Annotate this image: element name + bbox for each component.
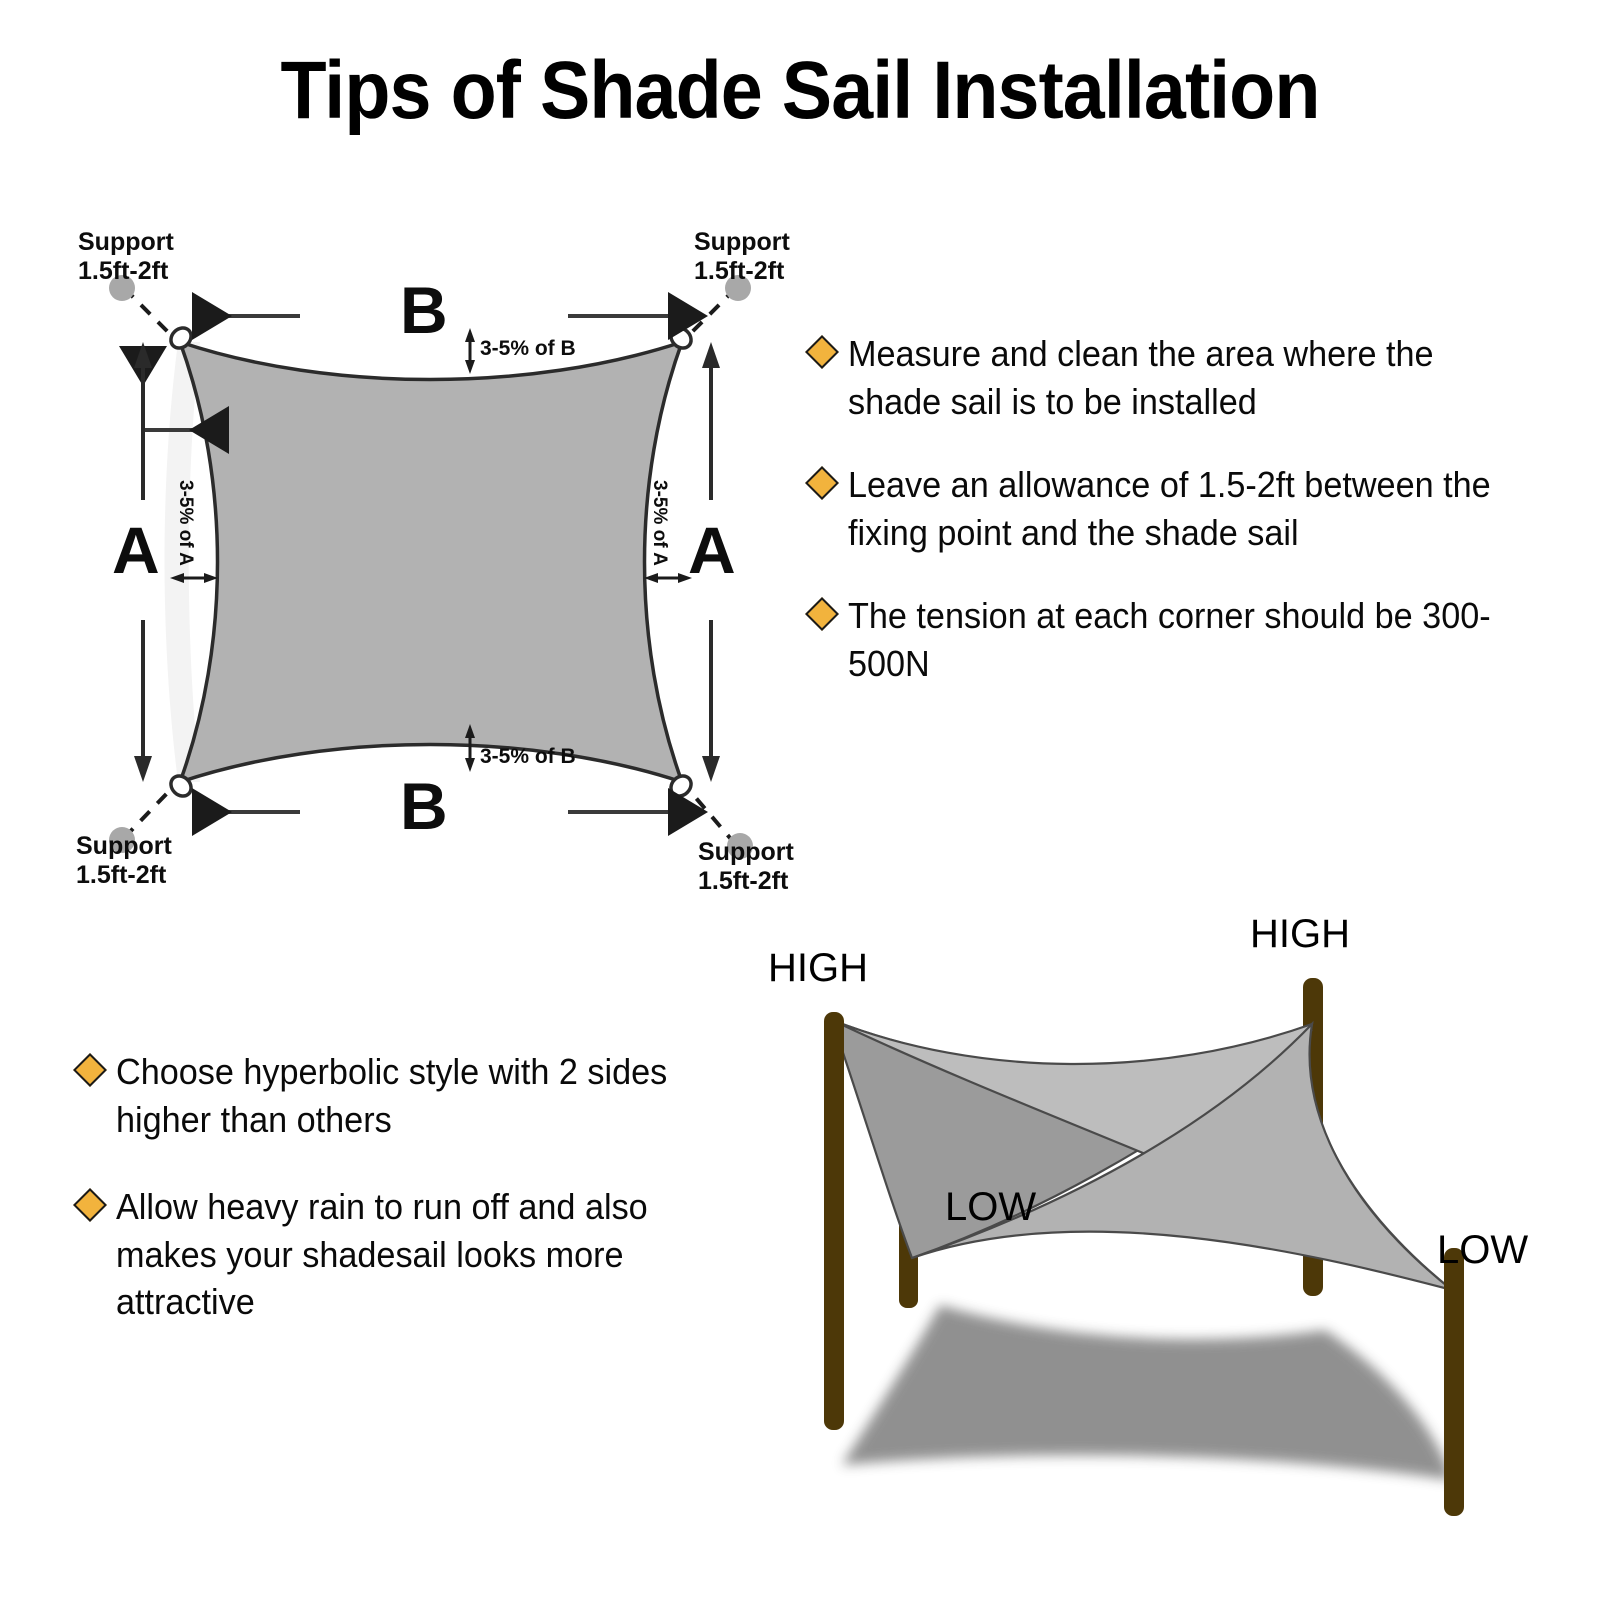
support-label-line1: Support	[76, 832, 172, 860]
callout-arrow-a-right	[644, 573, 692, 583]
dimension-letter-b-bottom: B	[400, 768, 448, 845]
tip-item: Allow heavy rain to run off and also mak…	[78, 1183, 778, 1326]
dimension-letter-a-right: A	[688, 512, 736, 589]
tips-list-right: Measure and clean the area where the sha…	[810, 330, 1550, 723]
tip-text: Choose hyperbolic style with 2 sides hig…	[116, 1048, 745, 1143]
corner-label-center-low: LOW	[945, 1185, 1036, 1230]
support-posts-back	[899, 978, 1323, 1308]
tips-list-bottom-left: Choose hyperbolic style with 2 sides hig…	[78, 1048, 778, 1366]
post-right-low	[1444, 1248, 1464, 1516]
tip-text: The tension at each corner should be 300…	[848, 592, 1515, 687]
diamond-bullet-icon	[805, 466, 839, 500]
ground-shadow	[842, 1305, 1452, 1480]
support-label-line2: 1.5ft-2ft	[76, 861, 166, 889]
tip-item: Choose hyperbolic style with 2 sides hig…	[78, 1048, 778, 1143]
post-left-high	[824, 1012, 844, 1430]
diamond-bullet-icon	[73, 1188, 107, 1222]
support-label-bottom-right: Support 1.5ft-2ft	[698, 838, 794, 896]
support-label-top-left: Support 1.5ft-2ft	[78, 228, 174, 286]
support-label-line1: Support	[78, 228, 174, 256]
post-center-low-back	[899, 1200, 918, 1308]
sail-top-face	[832, 1020, 1452, 1290]
support-label-bottom-left: Support 1.5ft-2ft	[76, 832, 172, 890]
tip-item: Leave an allowance of 1.5-2ft between th…	[810, 461, 1550, 556]
square-sail-body	[180, 342, 682, 782]
tether-bottom-right	[684, 784, 736, 845]
eyelet-top-right	[667, 324, 695, 352]
corner-label-right-high: HIGH	[1250, 912, 1350, 957]
dimension-letter-a-left: A	[112, 512, 160, 589]
support-label-line1: Support	[698, 838, 794, 866]
curve-callout-a-left: 3-5% of A	[174, 480, 196, 566]
support-label-line1: Support	[694, 228, 790, 256]
callout-arrow-b-top	[465, 328, 475, 374]
diamond-bullet-icon	[805, 597, 839, 631]
corner-label-right-low: LOW	[1437, 1228, 1528, 1273]
support-label-line2: 1.5ft-2ft	[78, 257, 168, 285]
tether-bottom-left	[124, 784, 176, 838]
curve-callout-b-top: 3-5% of B	[480, 337, 576, 361]
support-label-line2: 1.5ft-2ft	[698, 867, 788, 895]
callout-arrow-b-bottom	[465, 724, 475, 772]
sail-right-leaf	[912, 1024, 1452, 1290]
tether-top-right	[684, 288, 736, 340]
corner-label-left-high: HIGH	[768, 946, 868, 991]
diamond-bullet-icon	[805, 335, 839, 369]
callout-arrow-a-left	[170, 573, 218, 583]
curve-callout-a-right: 3-5% of A	[648, 480, 670, 566]
support-label-top-right: Support 1.5ft-2ft	[694, 228, 790, 286]
curve-callout-b-bottom: 3-5% of B	[480, 745, 576, 769]
post-right-high	[1303, 978, 1323, 1296]
tether-top-left	[124, 288, 176, 340]
tip-text: Leave an allowance of 1.5-2ft between th…	[848, 461, 1515, 556]
sail-under-face	[832, 1020, 1312, 1258]
support-label-line2: 1.5ft-2ft	[694, 257, 784, 285]
eyelet-top-left	[167, 324, 195, 352]
page-title: Tips of Shade Sail Installation	[64, 48, 1536, 134]
tip-text: Allow heavy rain to run off and also mak…	[116, 1183, 745, 1326]
dimension-letter-b-top: B	[400, 272, 448, 349]
eyelet-bottom-left	[167, 772, 195, 800]
dimension-line-a-left	[143, 350, 225, 430]
diamond-bullet-icon	[73, 1053, 107, 1087]
tip-text: Measure and clean the area where the sha…	[848, 330, 1515, 425]
support-tether-lines	[124, 288, 736, 845]
corner-eyelets	[167, 324, 695, 800]
support-posts-front	[824, 1012, 1464, 1516]
eyelet-bottom-right	[667, 772, 695, 800]
tip-item: The tension at each corner should be 300…	[810, 592, 1550, 687]
tip-item: Measure and clean the area where the sha…	[810, 330, 1550, 425]
